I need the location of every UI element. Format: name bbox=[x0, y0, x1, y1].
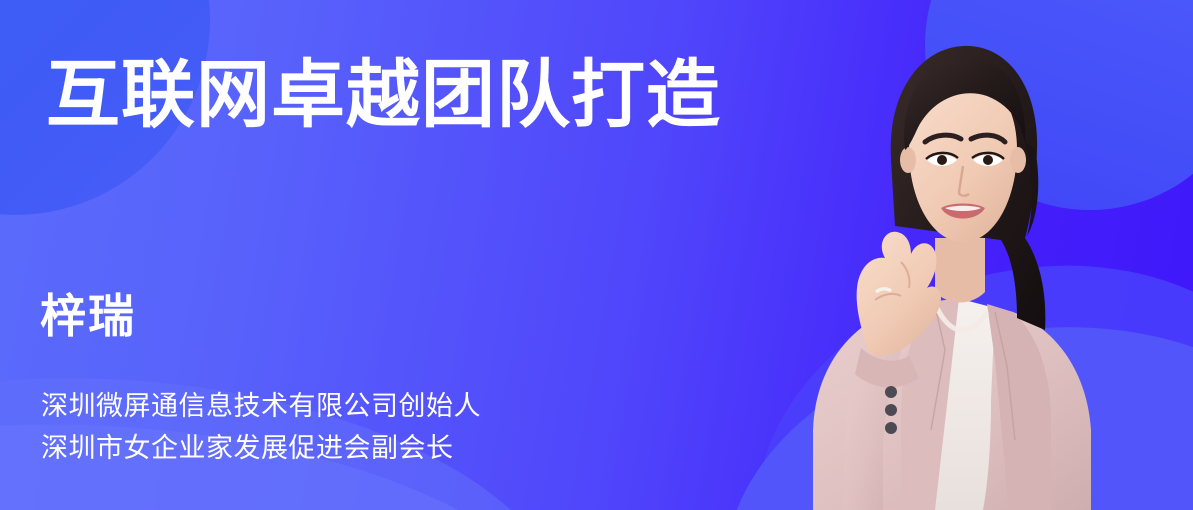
cuff-button-2 bbox=[885, 404, 897, 416]
text-content: 互联网卓越团队打造 梓瑞 深圳微屏通信息技术有限公司创始人 深圳市女企业家发展促… bbox=[0, 0, 720, 510]
cuff-button-1 bbox=[885, 386, 897, 398]
speaker-name: 梓瑞 bbox=[40, 291, 136, 342]
eye-left bbox=[937, 155, 947, 165]
cuff-button-3 bbox=[885, 422, 897, 434]
promo-banner: 互联网卓越团队打造 梓瑞 深圳微屏通信息技术有限公司创始人 深圳市女企业家发展促… bbox=[0, 0, 1193, 510]
speaker-title-line-1: 深圳微屏通信息技术有限公司创始人 bbox=[41, 386, 481, 428]
page-title: 互联网卓越团队打造 bbox=[46, 58, 721, 132]
presenter-photo bbox=[695, 0, 1115, 510]
neck bbox=[935, 238, 985, 303]
speaker-titles: 深圳微屏通信息技术有限公司创始人 深圳市女企业家发展促进会副会长 bbox=[41, 386, 481, 470]
speaker-title-line-2: 深圳市女企业家发展促进会副会长 bbox=[41, 428, 481, 470]
eye-right bbox=[983, 155, 993, 165]
